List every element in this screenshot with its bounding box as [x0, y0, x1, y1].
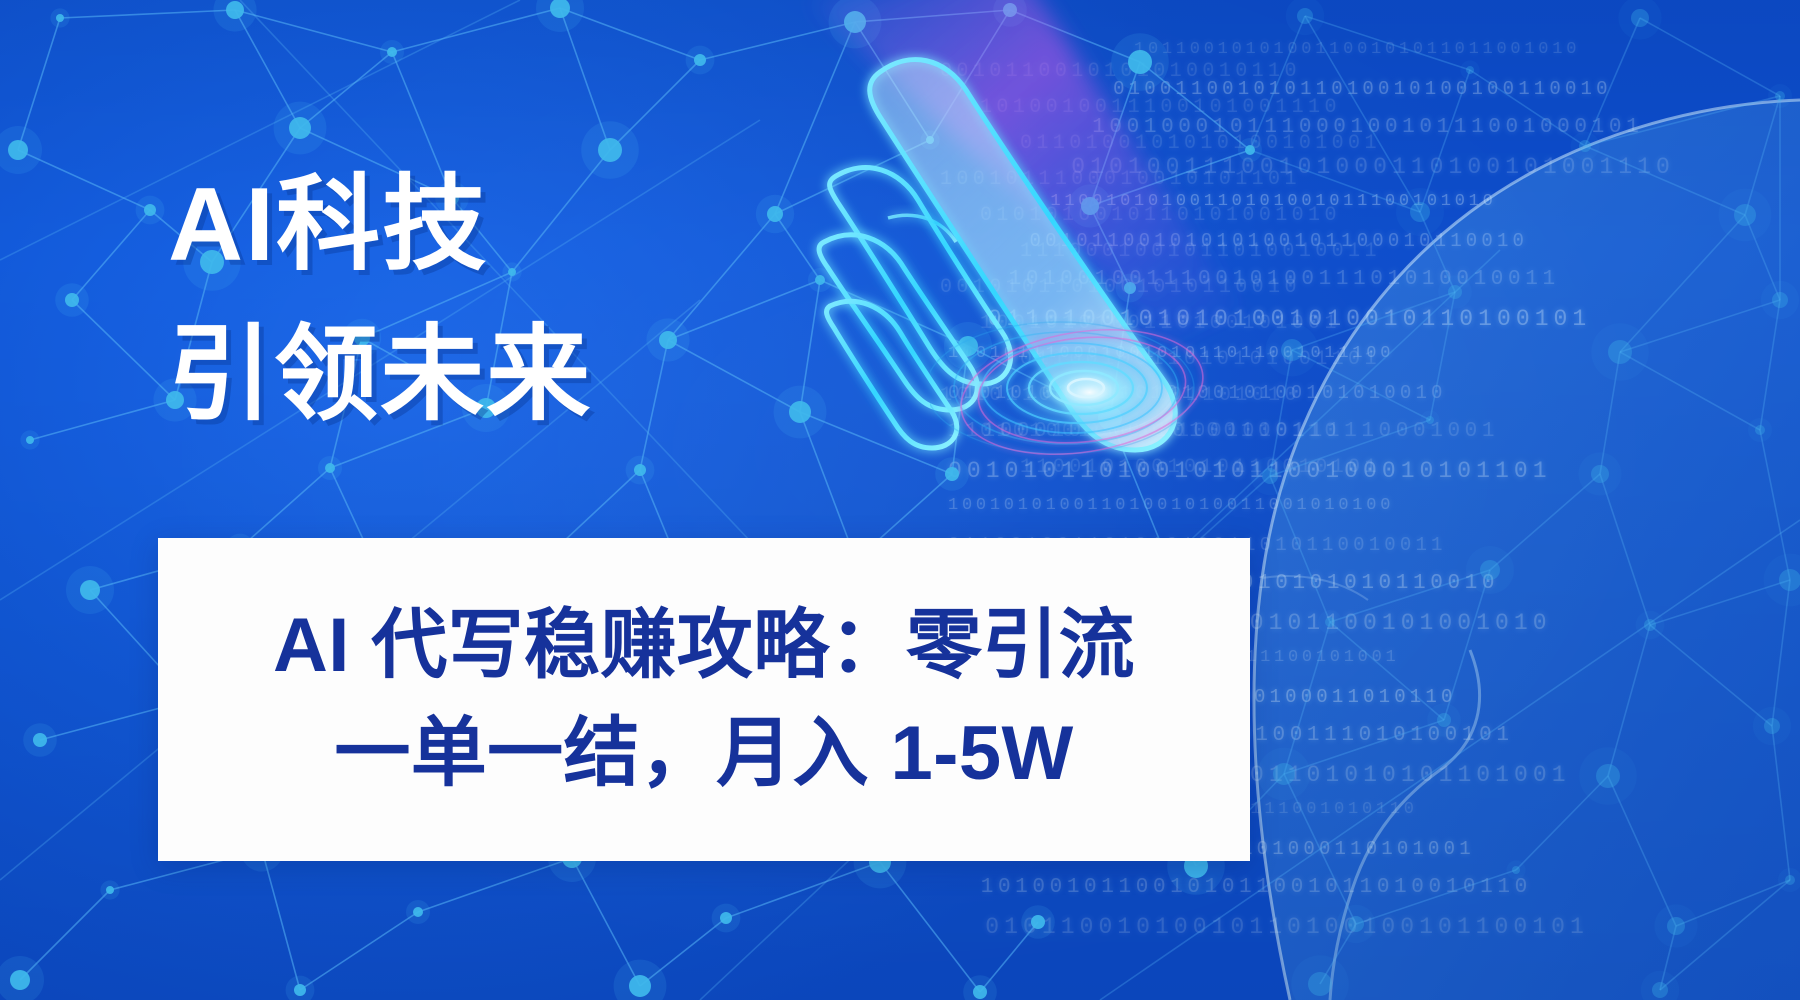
headline-line-2: 引领未来 [168, 300, 592, 450]
subtitle-line-1: AI 代写稳赚攻略：零引流 [273, 592, 1135, 700]
headline-block: AI科技 引领未来 [168, 150, 592, 450]
subtitle-card: AI 代写稳赚攻略：零引流 一单一结，月入 1-5W [158, 538, 1250, 861]
subtitle-line-2: 一单一结，月入 1-5W [334, 700, 1073, 808]
headline-line-1: AI科技 [168, 150, 592, 300]
poster-canvas: 1011001010100110010101101100101001001100… [0, 0, 1800, 1000]
